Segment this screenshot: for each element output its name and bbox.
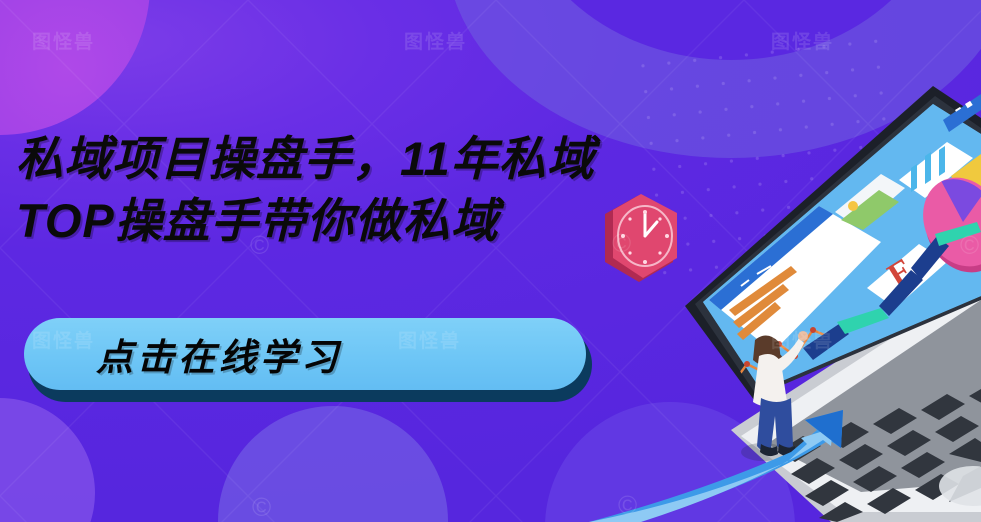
poster-canvas: E bbox=[0, 0, 981, 522]
headline-line-1: 私域项目操盘手，11年私域 bbox=[16, 128, 776, 190]
diagonal-line-pattern bbox=[0, 0, 981, 522]
headline-line-2: TOP操盘手带你做私域 bbox=[16, 190, 776, 252]
headline: 私域项目操盘手，11年私域 TOP操盘手带你做私域 bbox=[16, 128, 776, 252]
cta-container: 点击在线学习 bbox=[24, 318, 592, 402]
cta-label: 点击在线学习 bbox=[24, 327, 342, 381]
online-study-button[interactable]: 点击在线学习 bbox=[24, 318, 586, 390]
